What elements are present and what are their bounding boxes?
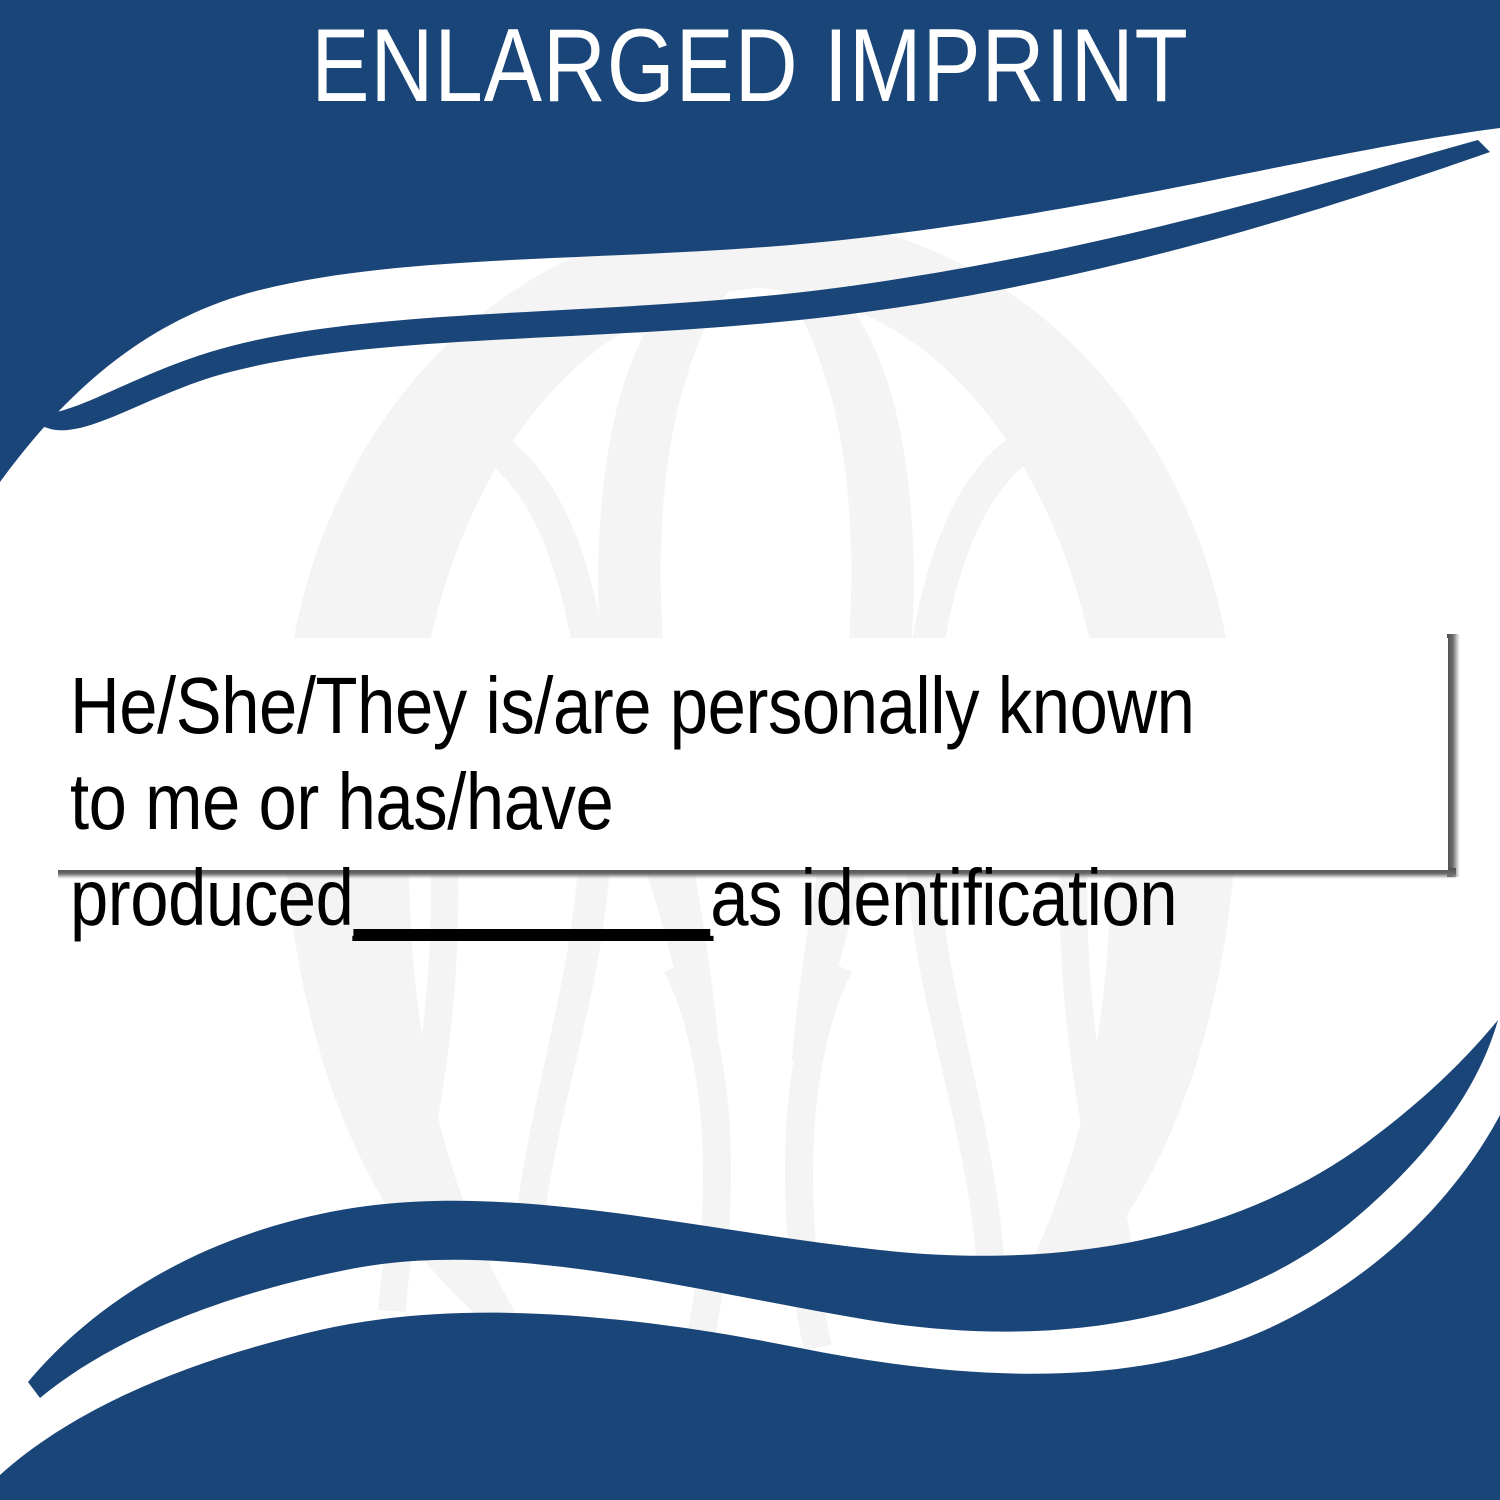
imprint-card: He/She/They is/are personally known to m… bbox=[0, 638, 1448, 870]
bottom-navy-wave bbox=[0, 1115, 1500, 1500]
page-title: ENLARGED IMPRINT bbox=[120, 12, 1380, 120]
imprint-line-2-after: as identification bbox=[710, 853, 1177, 942]
imprint-preview-canvas: ENLARGED IMPRINT He/She/They is/are pers… bbox=[0, 0, 1500, 1500]
imprint-text-block: He/She/They is/are personally known to m… bbox=[0, 658, 1226, 946]
imprint-blank-field: __________ bbox=[353, 853, 710, 942]
card-shadow-right bbox=[1447, 634, 1460, 877]
imprint-line-1: He/She/They is/are personally known to m… bbox=[70, 661, 1213, 846]
